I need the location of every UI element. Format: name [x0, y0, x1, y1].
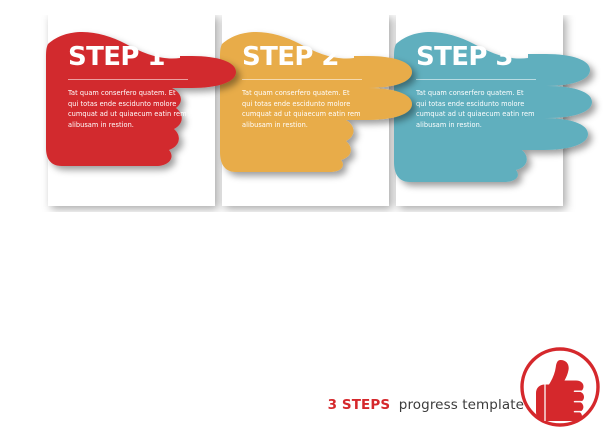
footer-caption: 3 STEPS progress template	[328, 399, 524, 413]
step-1-divider	[68, 79, 188, 80]
thumbs-up-logo[interactable]	[516, 343, 604, 431]
step-1-body: Tat quam conserfero quatem. Et qui totas…	[68, 88, 188, 131]
step-3-divider	[416, 79, 536, 80]
step-card-1[interactable]: STEP 1 Tat quam conserfero quatem. Et qu…	[22, 0, 222, 240]
step-2-text-block: STEP 2 Tat quam conserfero quatem. Et qu…	[242, 44, 370, 131]
footer: 3 STEPS progress template	[0, 332, 612, 432]
infographic-canvas: STEP 1 Tat quam conserfero quatem. Et qu…	[0, 0, 612, 432]
footer-caption-rest: progress template	[399, 397, 524, 413]
step-3-body: Tat quam conserfero quatem. Et qui totas…	[416, 88, 536, 131]
step-3-text-block: STEP 3 Tat quam conserfero quatem. Et qu…	[416, 44, 544, 131]
step-2-divider	[242, 79, 362, 80]
step-3-title: STEP 3	[416, 44, 544, 70]
step-2-title: STEP 2	[242, 44, 370, 70]
step-1-title: STEP 1	[68, 44, 196, 70]
footer-caption-strong: 3 STEPS	[328, 397, 391, 413]
step-1-text-block: STEP 1 Tat quam conserfero quatem. Et qu…	[68, 44, 196, 131]
steps-container: STEP 1 Tat quam conserfero quatem. Et qu…	[0, 0, 612, 240]
step-2-body: Tat quam conserfero quatem. Et qui totas…	[242, 88, 362, 131]
